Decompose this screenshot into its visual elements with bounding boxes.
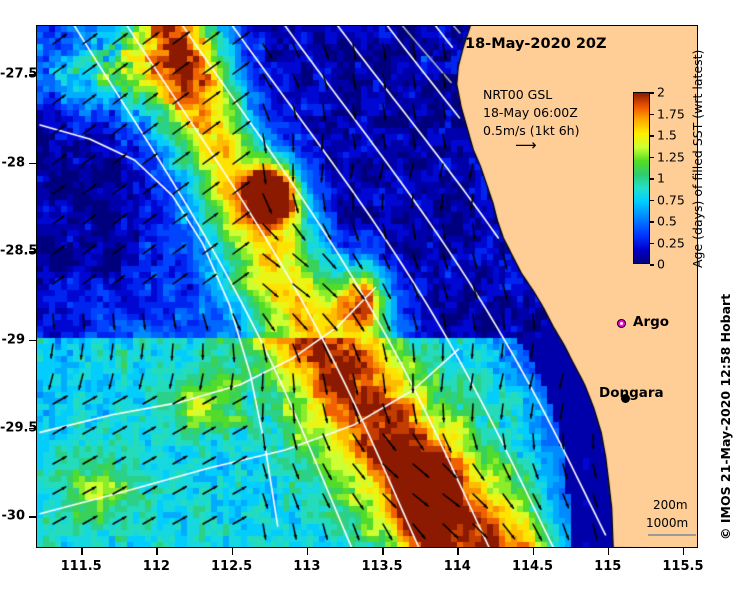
x-tick-label: 115	[594, 559, 621, 574]
annotation-model-label: NRT00 GSL	[483, 87, 552, 102]
colorbar-tick-label: 0.25	[657, 235, 685, 250]
x-tick	[232, 548, 234, 555]
x-tick	[533, 548, 535, 555]
argo-label: Argo	[633, 314, 669, 330]
depth-label-200m: 200m	[653, 498, 688, 512]
x-tick-label: 114	[444, 559, 471, 574]
x-tick	[307, 548, 309, 555]
x-tick	[382, 548, 384, 555]
annotation-scale-arrow-icon: ⟶	[515, 138, 537, 153]
x-tick	[81, 548, 83, 555]
x-tick-label: 111.5	[61, 559, 102, 574]
x-tick	[683, 548, 685, 555]
sst-age-heatmap-canvas[interactable]	[37, 26, 698, 548]
colorbar-tick-label: 1.5	[657, 128, 677, 143]
y-tick	[29, 516, 36, 518]
x-tick-label: 112.5	[211, 559, 252, 574]
annotation-valid-time: 18-May 06:00Z	[483, 105, 578, 120]
depth-label-1000m: 1000m	[646, 516, 688, 530]
y-tick-label: -27.5	[0, 67, 25, 82]
colorbar-tick-label: 2	[657, 85, 665, 100]
y-tick-label: -29	[0, 332, 25, 347]
map-plot-area[interactable]: 18-May-2020 20Z NRT00 GSL 18-May 06:00Z …	[36, 25, 698, 548]
colorbar-tick-label: 1	[657, 171, 665, 186]
colorbar-tick-label: 1.25	[657, 149, 685, 164]
colorbar-tick	[650, 92, 654, 94]
dongara-label: Dongara	[599, 385, 664, 401]
colorbar-title: Age (days) of filled SST (wrt latest)	[690, 50, 705, 268]
x-tick-label: 114.5	[512, 559, 553, 574]
y-tick	[29, 340, 36, 342]
colorbar-tick	[650, 200, 654, 202]
x-tick	[457, 548, 459, 555]
colorbar-tick-label: 0.5	[657, 214, 677, 229]
colorbar-tick	[650, 135, 654, 137]
map-title-date: 18-May-2020 20Z	[465, 36, 607, 52]
figure-root: 18-May-2020 20Z NRT00 GSL 18-May 06:00Z …	[0, 0, 739, 592]
x-tick-label: 113	[293, 559, 320, 574]
colorbar-tick	[650, 157, 654, 159]
colorbar-tick-label: 1.75	[657, 106, 685, 121]
depth-legend-line	[648, 534, 696, 536]
x-tick	[156, 548, 158, 555]
x-tick	[608, 548, 610, 555]
y-tick	[29, 163, 36, 165]
x-tick-label: 115.5	[662, 559, 703, 574]
colorbar-tick	[650, 264, 654, 266]
argo-float-marker[interactable]	[617, 319, 626, 328]
y-tick-label: -29.5	[0, 420, 25, 435]
colorbar-tick	[650, 114, 654, 116]
colorbar-tick-label: 0.75	[657, 192, 685, 207]
x-tick-label: 112	[143, 559, 170, 574]
y-tick-label: -28.5	[0, 244, 25, 259]
colorbar-gradient	[633, 92, 650, 264]
colorbar-tick	[650, 221, 654, 223]
copyright-text: © IMOS 21-May-2020 12:58 Hobart	[718, 294, 733, 540]
y-tick-label: -28	[0, 155, 25, 170]
colorbar-tick	[650, 178, 654, 180]
x-tick-label: 113.5	[361, 559, 402, 574]
colorbar-tick	[650, 243, 654, 245]
colorbar-tick-label: 0	[657, 257, 665, 272]
y-tick-label: -30	[0, 509, 25, 524]
